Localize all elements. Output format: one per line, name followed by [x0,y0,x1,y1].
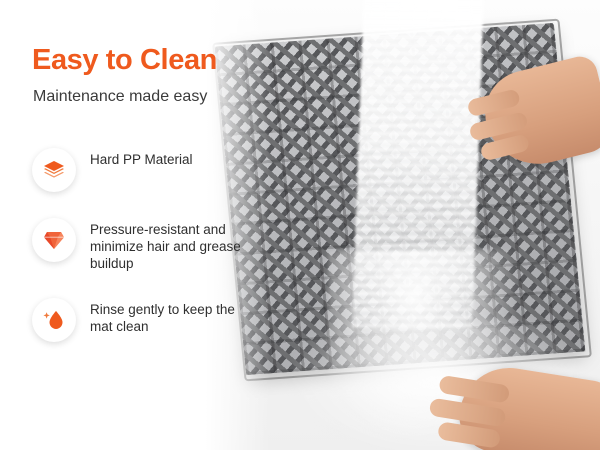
feature-text: Pressure-resistant and minimize hair and… [90,218,250,272]
feature-item: Pressure-resistant and minimize hair and… [32,218,262,272]
water-drop-sparkle-icon [32,298,76,342]
layers-icon [32,148,76,192]
feature-list: Hard PP Material Pressure-resistant and … [32,148,262,368]
feature-text: Hard PP Material [90,148,193,168]
headline: Easy to Clean [32,44,217,77]
subheadline: Maintenance made easy [33,88,207,106]
feature-item: Rinse gently to keep the mat clean [32,298,262,342]
product-feature-banner: Easy to Clean Maintenance made easy Hard… [0,0,600,450]
diamond-icon [32,218,76,262]
feature-item: Hard PP Material [32,148,262,192]
feature-text: Rinse gently to keep the mat clean [90,298,250,335]
text-panel: Easy to Clean Maintenance made easy Hard… [0,0,270,450]
